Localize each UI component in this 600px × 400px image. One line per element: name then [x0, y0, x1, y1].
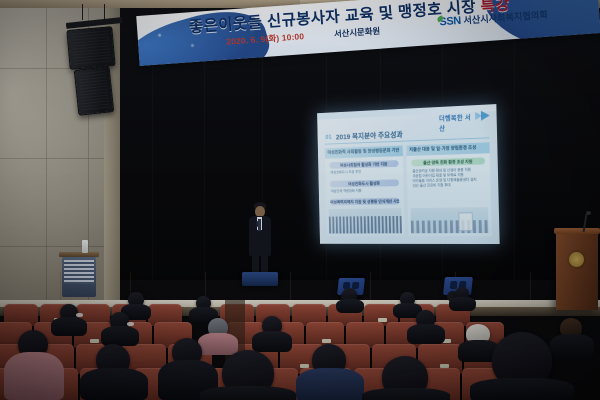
- attendee-shoulders: [296, 368, 364, 400]
- attendee-shoulders: [470, 378, 574, 400]
- slide-pill: 여성사회참여 활성화 기반 지원: [329, 160, 398, 169]
- column-header-text: 저출산 대응 및 일·가정 양립환경 조성: [409, 144, 487, 153]
- attendee-shoulders: [550, 334, 594, 358]
- av-cart: [62, 257, 96, 297]
- face-mask: [76, 313, 83, 317]
- slide-section-number: 01: [325, 134, 331, 141]
- hanging-speaker-upper: [66, 26, 115, 70]
- slide-bullets: 여성친화도시 조성 추진: [330, 169, 398, 176]
- lectern-top: [554, 228, 600, 234]
- attendee-shoulders: [200, 386, 296, 400]
- chevron-right-icon: [481, 110, 490, 120]
- slide-bullets: 임신·출산 진료비 지원 확대: [413, 182, 486, 188]
- slide-photo-left: [329, 208, 402, 233]
- slide-column-right: 저출산 대응 및 일·가정 양립환경 조성 출산·양육 친화 환경 조성 지원 …: [406, 142, 491, 236]
- banner-venue: 서산시문화원: [334, 25, 381, 40]
- slide-pill: 여성폭력피해자 지원 및 성평등 인식개선 사업 추진: [330, 198, 399, 206]
- attendee-shoulders: [449, 297, 476, 311]
- slide-column-left: 여성친화적 사회활동 및 양성평등문화 기반 조성 여성사회참여 활성화 기반 …: [325, 146, 405, 237]
- slide-logo: 더행복한 서산: [439, 109, 491, 124]
- slide-pill: 출산·양육 친화 환경 조성 지원: [411, 157, 485, 166]
- attendee-shoulders: [51, 317, 87, 336]
- auditorium-photo: 좋은이웃들 신규봉사자 교육 및 맹정호 시장 특강 2020. 6. 9(화)…: [0, 0, 600, 400]
- attendee-shoulders: [336, 299, 364, 313]
- city-emblem-icon: [569, 252, 584, 267]
- column-header-text: 여성친화적 사회활동 및 양성평등문화 기반 조성: [327, 148, 400, 156]
- attendee-shoulders: [198, 333, 238, 355]
- slide-photo-right: [410, 207, 488, 233]
- hanging-speaker-lower: [74, 66, 115, 116]
- attendee-shoulders: [407, 324, 445, 344]
- projection-screen: 더행복한 서산 01 2019 복지분야 주요성과 여성친화적 사회활동 및 양…: [317, 104, 500, 244]
- attendee-shoulders: [252, 331, 292, 352]
- mic-head-icon: [586, 211, 591, 215]
- slide-pill: 여성친화도시 활성화: [330, 179, 399, 187]
- attendee-shoulders: [362, 388, 450, 400]
- speaker-rod: [82, 4, 83, 20]
- column-header-band: 여성친화적 사회활동 및 양성평등문화 기반 조성: [325, 146, 403, 159]
- presenter-leg: [261, 252, 268, 274]
- presenter-leg: [252, 252, 259, 274]
- attendee-shoulders: [4, 352, 64, 400]
- speaker-riser: [242, 272, 278, 286]
- slide-bullets: 여성단체 역량강화 지원: [331, 188, 399, 194]
- presenter-tie: [258, 219, 261, 231]
- slide-logo-text: 더행복한 서산: [439, 111, 476, 132]
- presenter: [246, 202, 274, 276]
- lectern: [556, 232, 598, 310]
- face-mask: [127, 322, 134, 326]
- water-bottle: [82, 240, 88, 253]
- attendee-shoulders: [101, 326, 139, 346]
- microphone-icon: [256, 221, 258, 227]
- attendee-shoulders: [80, 368, 148, 400]
- column-header-band: 저출산 대응 및 일·가정 양립환경 조성: [406, 142, 489, 156]
